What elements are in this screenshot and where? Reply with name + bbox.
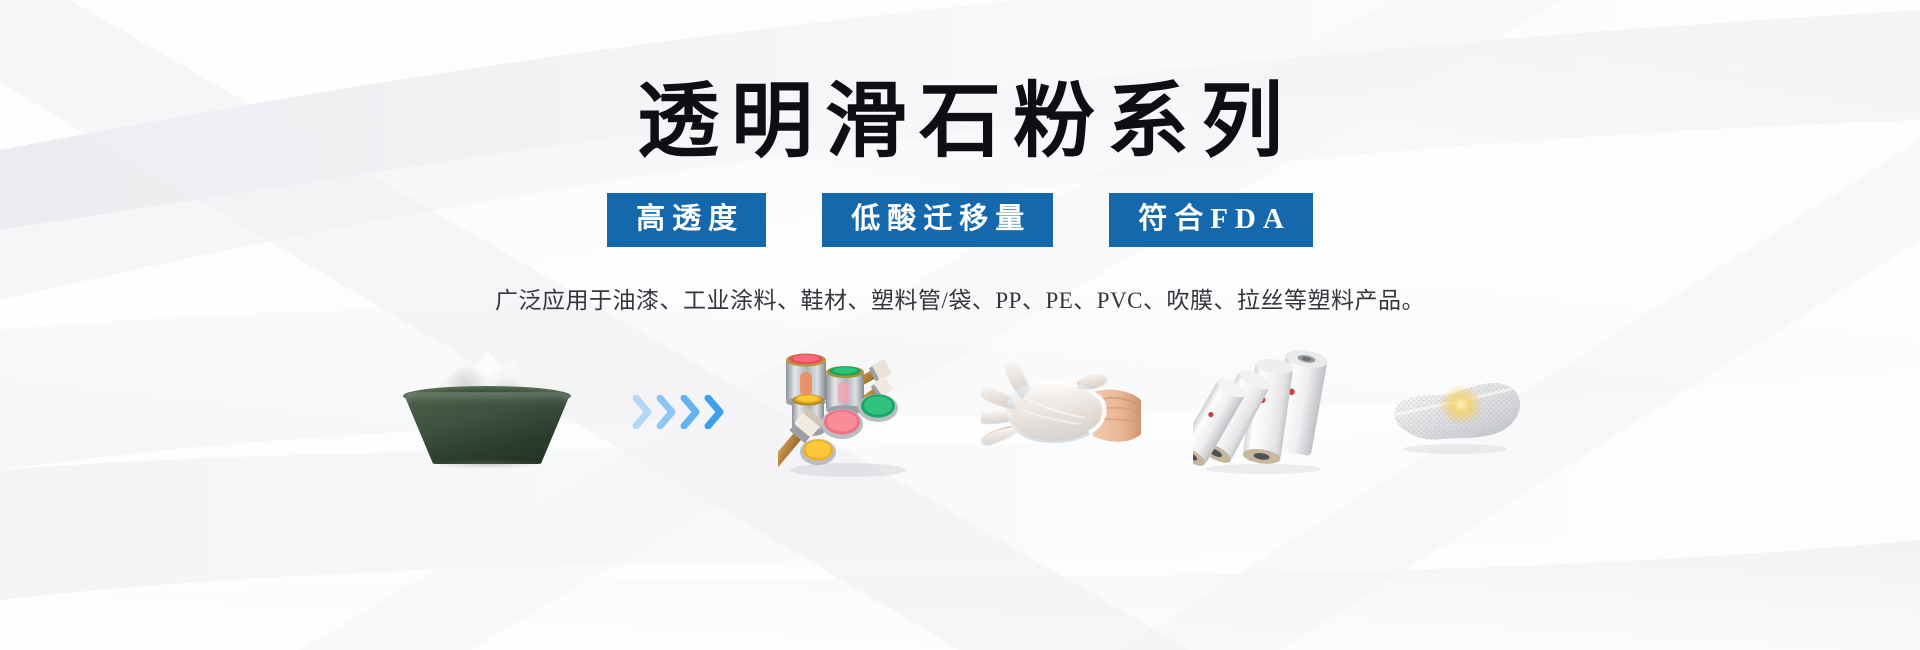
feature-badge-list: 高透度 低酸迁移量 符合FDA xyxy=(607,193,1313,247)
plastic-film-rolls-image xyxy=(1193,337,1333,487)
badge-fda-compliant: 符合FDA xyxy=(1109,193,1313,247)
chevron-right-icon xyxy=(704,395,726,429)
chevron-right-icon xyxy=(656,395,678,429)
chevron-right-icon xyxy=(632,395,654,429)
badge-high-transparency: 高透度 xyxy=(607,193,766,247)
page-title: 透明滑石粉系列 xyxy=(625,78,1295,167)
bowl-body xyxy=(403,392,571,464)
product-application-strip xyxy=(395,337,1525,487)
process-arrows xyxy=(632,337,726,487)
shoe-sole-illustration xyxy=(1385,357,1525,467)
application-description: 广泛应用于油漆、工业涂料、鞋材、塑料管/袋、PP、PE、PVC、吹膜、拉丝等塑料… xyxy=(495,281,1425,315)
bowl-shadow xyxy=(411,457,563,471)
gloved-hand-illustration xyxy=(981,352,1141,472)
paint-cans-image xyxy=(778,337,928,487)
film-rolls-illustration xyxy=(1193,349,1333,474)
chevron-right-icon xyxy=(680,395,702,429)
plastic-glove-hand-image xyxy=(981,337,1141,487)
product-banner: 透明滑石粉系列 高透度 低酸迁移量 符合FDA 广泛应用于油漆、工业涂料、鞋材、… xyxy=(0,0,1920,650)
paint-cans-illustration xyxy=(778,342,928,482)
talc-powder-bowl-image xyxy=(395,337,580,487)
badge-low-acid-migration: 低酸迁移量 xyxy=(822,193,1053,247)
shoe-sole-image xyxy=(1385,337,1525,487)
banner-content: 透明滑石粉系列 高透度 低酸迁移量 符合FDA 广泛应用于油漆、工业涂料、鞋材、… xyxy=(0,0,1920,650)
